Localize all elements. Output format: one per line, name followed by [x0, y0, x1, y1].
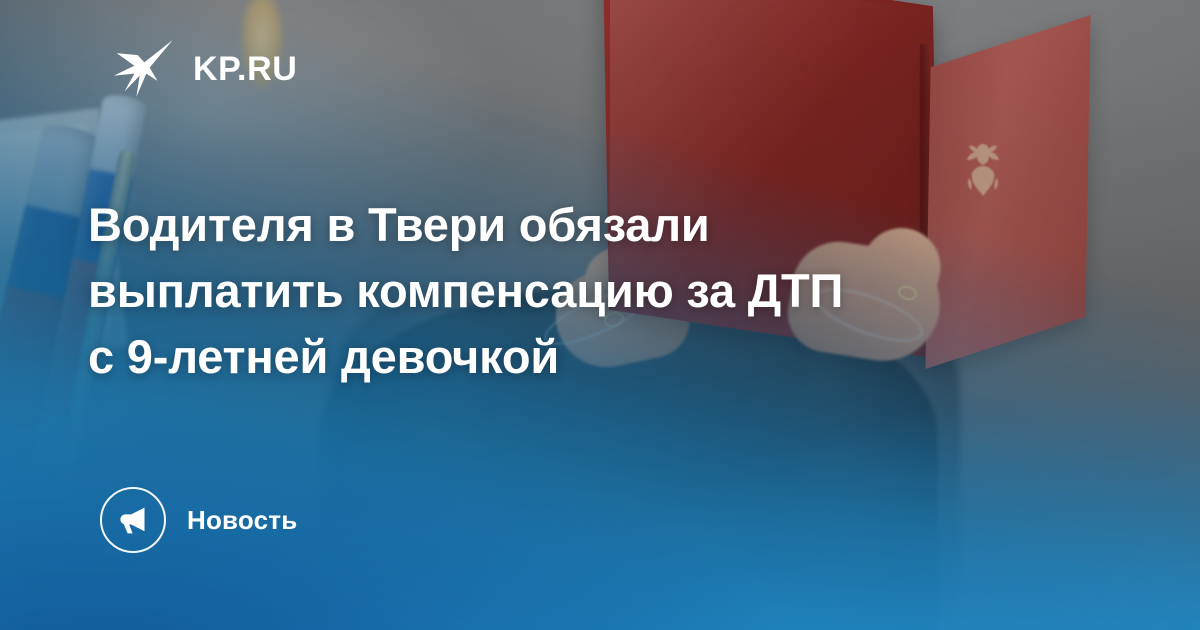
swallow-bird-icon [110, 36, 176, 102]
headline-line-3: с 9-летней девочкой [88, 324, 1050, 390]
megaphone-icon [116, 503, 150, 537]
page-title: Водителя в Твери обязали выплатить компе… [88, 192, 1050, 390]
brand-lockup[interactable]: KP.RU [110, 36, 297, 102]
headline-line-1: Водителя в Твери обязали [88, 192, 1050, 258]
badge-label: Новость [187, 505, 297, 536]
brand-name: KP.RU [193, 52, 297, 86]
social-share-card: KP.RU Водителя в Твери обязали выплатить… [0, 0, 1200, 630]
badge-icon-circle [100, 487, 166, 553]
card-content: KP.RU Водителя в Твери обязали выплатить… [0, 0, 1200, 630]
status-badge[interactable]: Новость [100, 487, 297, 553]
headline-line-2: выплатить компенсацию за ДТП [88, 258, 1050, 324]
